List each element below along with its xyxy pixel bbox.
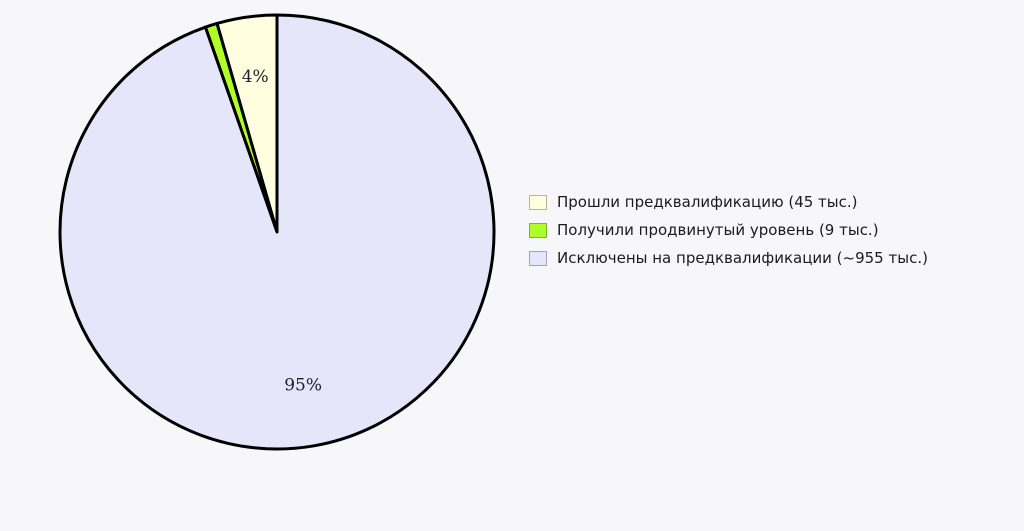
legend-item-label: Прошли предквалификацию (45 тыс.) <box>557 193 858 211</box>
pie-slice-group <box>60 15 494 449</box>
legend-item[interactable]: Получили продвинутый уровень (9 тыс.) <box>529 218 999 242</box>
legend-item[interactable]: Исключены на предквалификации (~955 тыс.… <box>529 246 999 270</box>
pie-slice-percent-label: 95% <box>284 376 322 396</box>
pie-slice-percent-label: 4% <box>242 67 269 87</box>
chart-legend: Прошли предквалификацию (45 тыс.)Получил… <box>529 190 999 274</box>
pie-slice <box>60 15 494 449</box>
legend-item-label: Получили продвинутый уровень (9 тыс.) <box>557 221 879 239</box>
pie-chart-figure: 4%95% Прошли предквалификацию (45 тыс.)П… <box>0 0 1024 531</box>
legend-item-label: Исключены на предквалификации (~955 тыс.… <box>557 249 928 267</box>
legend-item[interactable]: Прошли предквалификацию (45 тыс.) <box>529 190 999 214</box>
legend-color-swatch <box>529 251 547 266</box>
legend-color-swatch <box>529 195 547 210</box>
legend-color-swatch <box>529 223 547 238</box>
